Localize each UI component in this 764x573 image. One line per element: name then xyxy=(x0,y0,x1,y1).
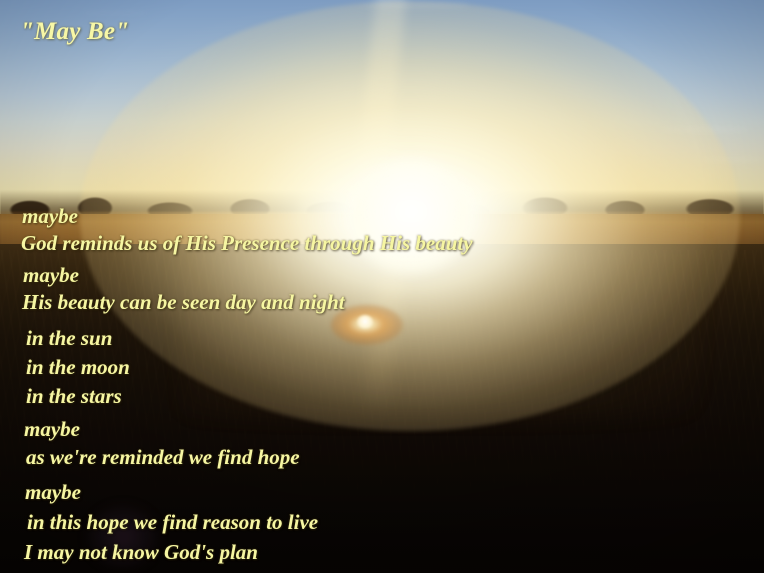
poem-line: maybe xyxy=(25,482,764,503)
poem-line: in the sun xyxy=(26,328,764,349)
poem-poster: "May Be" maybeGod reminds us of His Pres… xyxy=(0,0,764,573)
poem-line: His beauty can be seen day and night xyxy=(22,292,764,313)
poem-body: maybeGod reminds us of His Presence thro… xyxy=(0,206,764,573)
poem-line: maybe xyxy=(23,265,764,286)
poem-line: in this hope we find reason to live xyxy=(27,512,764,533)
poem-line: in the moon xyxy=(26,357,764,378)
poem-line: in the stars xyxy=(26,386,764,407)
poem-line: as we're reminded we find hope xyxy=(26,447,764,468)
poem-line: maybe xyxy=(22,206,764,227)
cloud-streak xyxy=(80,12,150,14)
poem-line: I may not know God's plan xyxy=(24,542,764,563)
poem-line: God reminds us of His Presence through H… xyxy=(21,233,764,254)
page-title: "May Be" xyxy=(20,18,129,46)
poem-line: maybe xyxy=(24,419,764,440)
